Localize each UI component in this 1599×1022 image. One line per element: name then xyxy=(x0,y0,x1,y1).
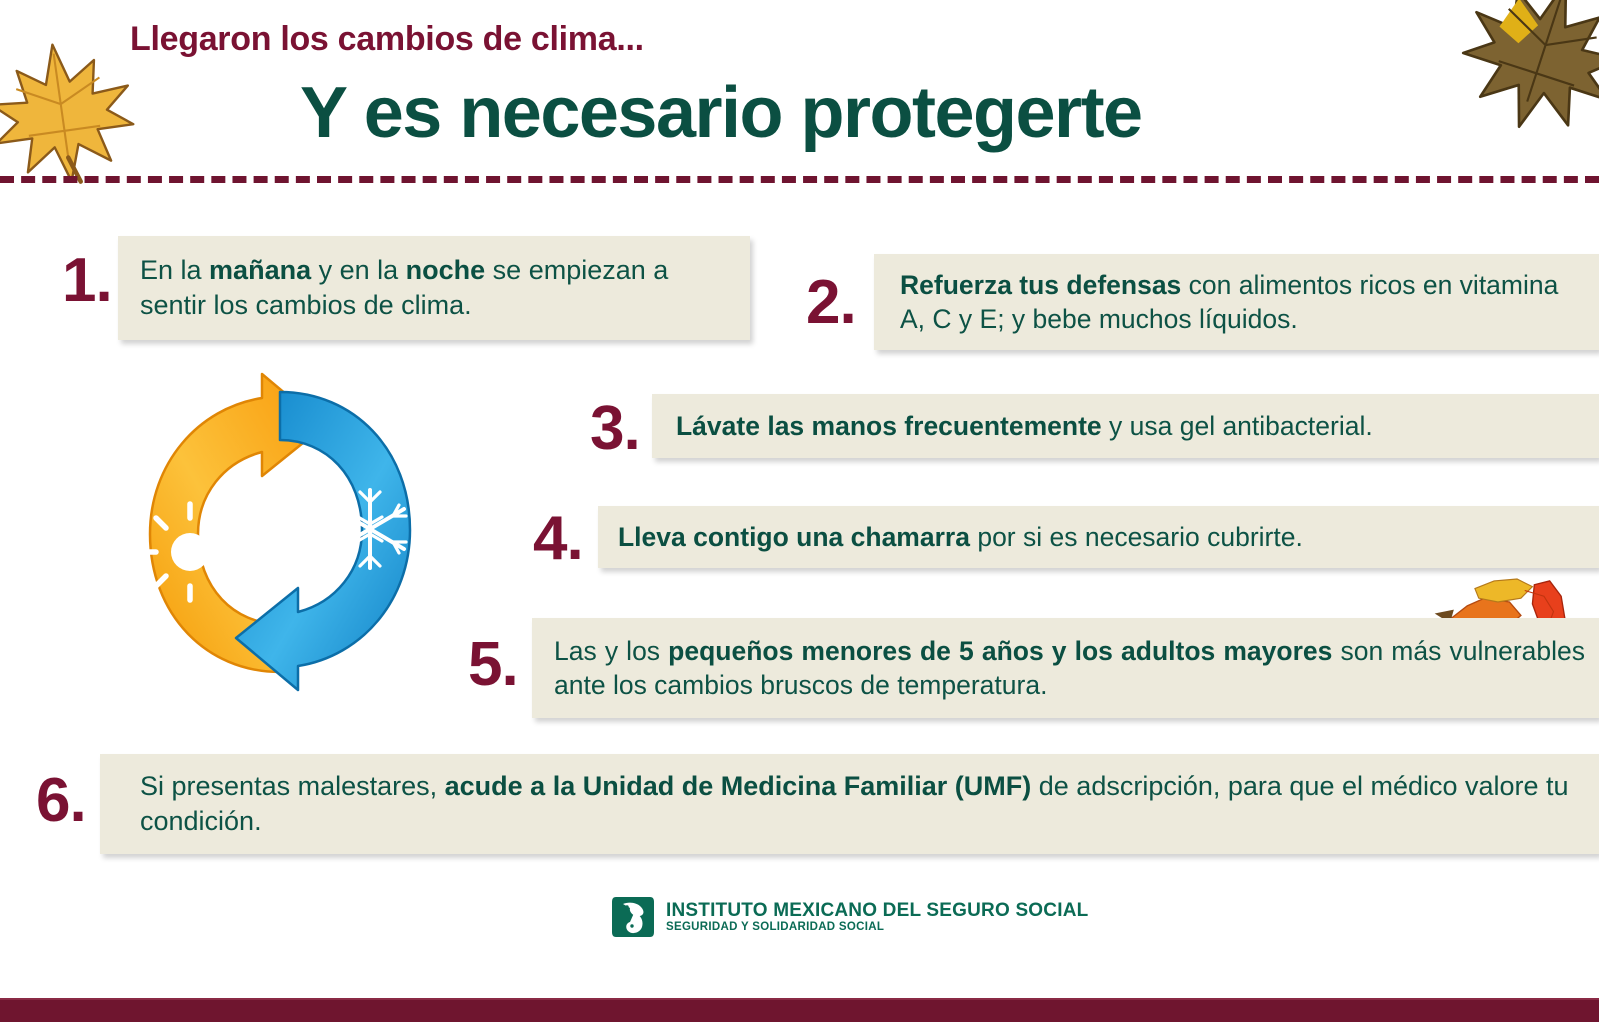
imss-logo: INSTITUTO MEXICANO DEL SEGURO SOCIAL SEG… xyxy=(610,893,1088,941)
kicker-text: Llegaron los cambios de clima... xyxy=(130,20,644,59)
item-text-2: Refuerza tus defensas con alimentos rico… xyxy=(900,268,1583,337)
item-panel-4: Lleva contigo una chamarra por si es nec… xyxy=(598,506,1599,568)
temperature-change-icon xyxy=(128,372,432,692)
item-number-1: 1. xyxy=(62,250,112,312)
imss-eagle-icon xyxy=(610,893,656,941)
item-number-3: 3. xyxy=(590,398,640,460)
sun-icon xyxy=(142,504,238,600)
item-number-5: 5. xyxy=(468,634,518,696)
item-number-6: 6. xyxy=(36,770,86,832)
item-text-6: Si presentas malestares, acude a la Unid… xyxy=(140,769,1579,839)
infographic-canvas: Llegaron los cambios de clima... Y es ne… xyxy=(0,0,1599,1020)
item-panel-1: En la mañana y en la noche se empiezan a… xyxy=(118,236,750,340)
header-divider xyxy=(0,176,1599,183)
item-text-4: Lleva contigo una chamarra por si es nec… xyxy=(618,520,1303,554)
item-panel-6: Si presentas malestares, acude a la Unid… xyxy=(100,754,1599,854)
item-number-2: 2. xyxy=(806,272,856,334)
item-text-5: Las y los pequeños menores de 5 años y l… xyxy=(554,634,1585,703)
item-panel-2: Refuerza tus defensas con alimentos rico… xyxy=(874,254,1599,350)
item-panel-5: Las y los pequeños menores de 5 años y l… xyxy=(532,618,1599,718)
item-panel-3: Lávate las manos frecuentemente y usa ge… xyxy=(652,394,1599,458)
imss-logo-title: INSTITUTO MEXICANO DEL SEGURO SOCIAL xyxy=(666,901,1088,921)
header: Llegaron los cambios de clima... Y es ne… xyxy=(0,0,1599,178)
item-text-1: En la mañana y en la noche se empiezan a… xyxy=(140,253,732,323)
item-text-3: Lávate las manos frecuentemente y usa ge… xyxy=(676,409,1373,443)
imss-logo-subtitle: SEGURIDAD Y SOLIDARIDAD SOCIAL xyxy=(666,921,1088,934)
item-number-4: 4. xyxy=(533,508,583,570)
page-title: Y es necesario protegerte xyxy=(300,72,1142,154)
bottom-bar xyxy=(0,998,1599,1022)
